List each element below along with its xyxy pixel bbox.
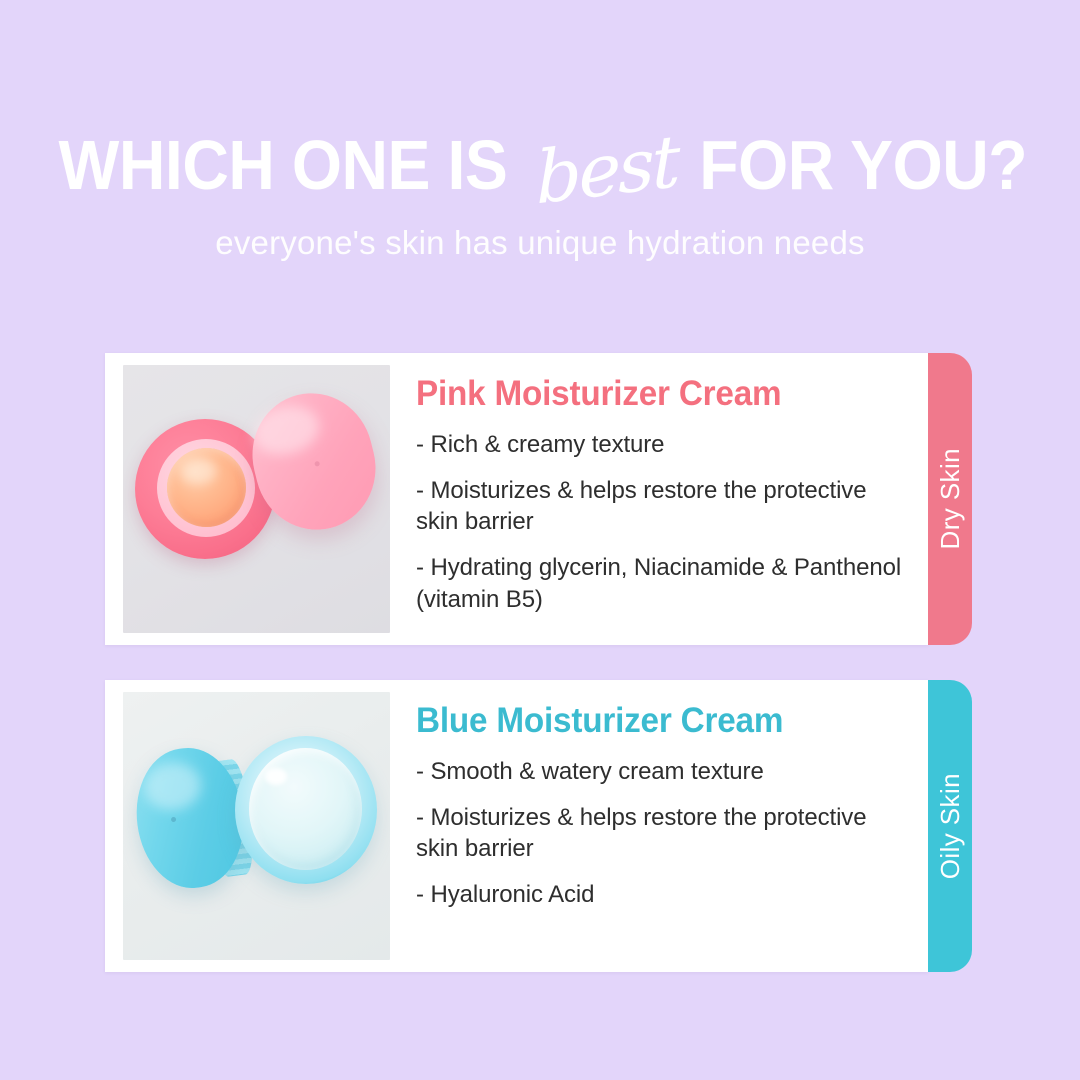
blue-gel-surface-icon	[249, 748, 362, 870]
pink-jar-inner-rim-icon	[157, 439, 255, 537]
blue-moisturizer-jar-photo	[123, 692, 390, 960]
skin-type-tab-label: Dry Skin	[935, 448, 966, 549]
list-item: - Moisturizes & helps restore the protec…	[416, 802, 910, 865]
product-title: Pink Moisturizer Cream	[416, 374, 885, 414]
list-item: - Moisturizes & helps restore the protec…	[416, 475, 910, 538]
poster-canvas: WHICH ONE IS best FOR YOU? everyone's sk…	[0, 0, 1080, 1080]
card-body: Pink Moisturizer Cream - Rich & creamy t…	[105, 353, 928, 645]
headline-part2: FOR YOU?	[699, 130, 1027, 200]
card-body: Blue Moisturizer Cream - Smooth & watery…	[105, 680, 928, 972]
list-item: - Rich & creamy texture	[416, 429, 910, 461]
pink-moisturizer-jar-photo	[123, 365, 390, 633]
header-block: WHICH ONE IS best FOR YOU? everyone's sk…	[0, 128, 1080, 262]
product-card-blue[interactable]: Blue Moisturizer Cream - Smooth & watery…	[105, 680, 972, 972]
skin-type-tab-dry[interactable]: Dry Skin	[928, 353, 972, 645]
card-content: Pink Moisturizer Cream - Rich & creamy t…	[390, 365, 928, 615]
feature-list: - Rich & creamy texture - Moisturizes & …	[416, 429, 910, 615]
list-item: - Hydrating glycerin, Niacinamide & Pant…	[416, 552, 910, 615]
subtitle: everyone's skin has unique hydration nee…	[0, 224, 1080, 262]
pink-cream-surface-icon	[167, 448, 246, 527]
feature-list: - Smooth & watery cream texture - Moistu…	[416, 756, 910, 911]
product-title: Blue Moisturizer Cream	[416, 701, 885, 741]
headline: WHICH ONE IS best FOR YOU?	[0, 128, 1080, 200]
card-content: Blue Moisturizer Cream - Smooth & watery…	[390, 692, 928, 911]
skin-type-tab-oily[interactable]: Oily Skin	[928, 680, 972, 972]
headline-script-word: best	[526, 124, 685, 216]
list-item: - Hyaluronic Acid	[416, 879, 910, 911]
blue-jar-base-icon	[235, 736, 377, 884]
skin-type-tab-label: Oily Skin	[935, 773, 966, 879]
headline-part1: WHICH ONE IS	[58, 130, 507, 200]
product-card-pink[interactable]: Pink Moisturizer Cream - Rich & creamy t…	[105, 353, 972, 645]
list-item: - Smooth & watery cream texture	[416, 756, 910, 788]
